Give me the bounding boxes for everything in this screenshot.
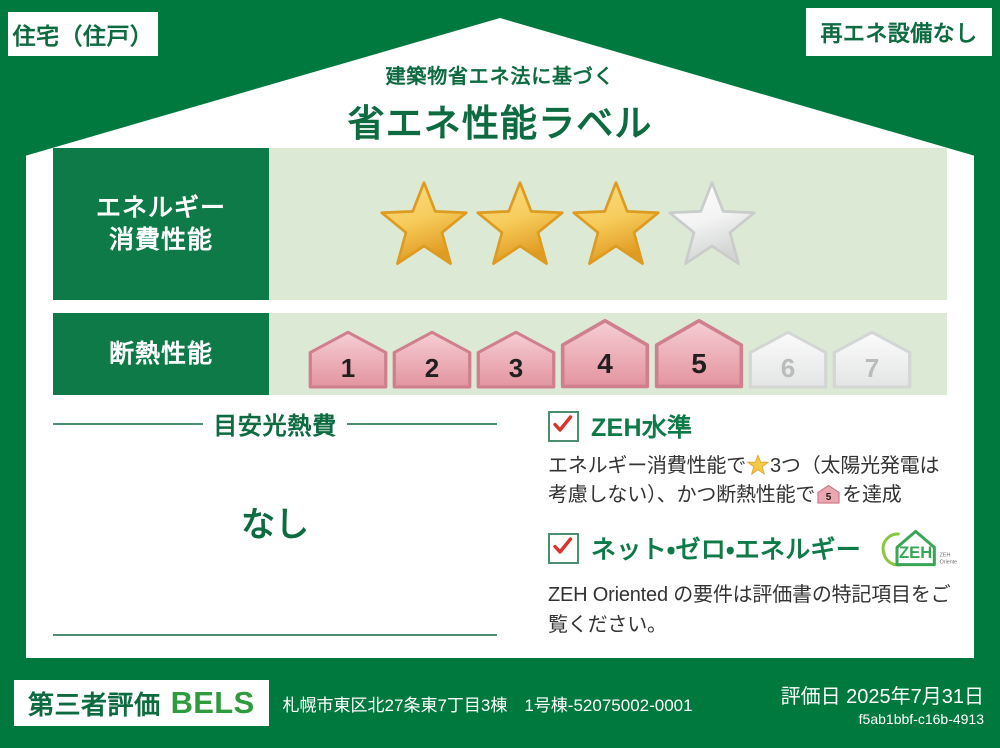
- insulation-level-7: 7: [831, 330, 913, 390]
- zeh-oriented-logo: ZEH ZEH Oriented: [877, 526, 957, 570]
- svg-text:ZEH: ZEH: [899, 543, 932, 562]
- renewable-energy-tag: 再エネ設備なし: [806, 8, 992, 56]
- certificate-id: f5ab1bbf-c16b-4913: [781, 711, 984, 727]
- svg-text:Oriented: Oriented: [940, 559, 957, 565]
- zeh-desc-part1: エネルギー消費性能で: [548, 455, 746, 477]
- footer-right: 評価日 2025年7月31日 f5ab1bbf-c16b-4913: [781, 680, 984, 727]
- insulation-level-number: 6: [747, 353, 829, 384]
- bels-badge: 第三者評価 BELS: [14, 680, 269, 726]
- insulation-level-4: 4: [559, 318, 651, 390]
- footer: 第三者評価 BELS 札幌市東区北27条東7丁目3棟 1号棟-52075002-…: [0, 658, 1000, 748]
- star-empty-icon: [667, 179, 757, 269]
- star-filled-icon: [571, 179, 661, 269]
- insulation-level-1: 1: [307, 330, 389, 390]
- insulation-level-number: 4: [559, 348, 651, 380]
- insulation-scale-body: 1234567: [269, 313, 947, 395]
- rule-left: [53, 423, 203, 425]
- zeh-desc-part3: を達成: [842, 484, 901, 506]
- energy-performance-label-line2: 消費性能: [109, 224, 213, 257]
- net-zero-energy-header: ネット・ゼロ・エネルギー ZEH ZEH Oriented: [548, 526, 958, 570]
- building-type-tag-label: 住宅（住戸）: [13, 17, 154, 51]
- building-type-tag: 住宅（住戸）: [8, 12, 158, 56]
- insulation-level-2: 2: [391, 330, 473, 390]
- insulation-level-6: 6: [747, 330, 829, 390]
- utility-cost-header: 目安光熱費: [53, 406, 497, 441]
- check-icon: [552, 414, 573, 435]
- insulation-performance-label-text: 断熱性能: [109, 338, 213, 371]
- renewable-energy-tag-label: 再エネ設備なし: [820, 16, 977, 48]
- title-subtitle: 建築物省エネ法に基づく: [0, 60, 1000, 89]
- insulation-level-number: 3: [475, 353, 557, 384]
- energy-performance-label: エネルギー 消費性能: [53, 148, 269, 300]
- title-main: 省エネ性能ラベル: [0, 93, 1000, 147]
- star-rating: [269, 148, 947, 300]
- insulation-performance-row: 断熱性能 1234567: [53, 313, 947, 395]
- energy-performance-label: 住宅（住戸） 再エネ設備なし 建築物省エネ法に基づく 省エネ性能ラベル エネルギ…: [0, 0, 1000, 748]
- net-zero-energy-description: ZEH Oriented の要件は評価書の特記項目をご覧ください。: [548, 580, 958, 640]
- insulation-level-5: 5: [653, 318, 745, 390]
- utility-cost-bottom-rule: [53, 634, 497, 636]
- insulation-level-number: 5: [653, 348, 745, 380]
- energy-performance-row: エネルギー 消費性能: [53, 148, 947, 300]
- title-block: 建築物省エネ法に基づく 省エネ性能ラベル: [0, 60, 1000, 147]
- svg-text:ZEH: ZEH: [940, 553, 951, 559]
- zeh-standard-header: ZEH水準: [548, 408, 958, 444]
- net-zero-energy-section: ネット・ゼロ・エネルギー ZEH ZEH Oriented ZEH Orient…: [548, 526, 958, 640]
- star-icon: [747, 454, 769, 476]
- net-zero-energy-title: ネット・ゼロ・エネルギー: [591, 530, 861, 566]
- star-filled-icon: [379, 179, 469, 269]
- house-level-5-icon: 5: [817, 483, 840, 506]
- star-filled-icon: [475, 179, 565, 269]
- utility-cost-block: 目安光熱費 なし: [53, 406, 497, 636]
- insulation-level-number: 2: [391, 353, 473, 384]
- bels-en-label: BELS: [171, 685, 255, 721]
- insulation-level-3: 3: [475, 330, 557, 390]
- utility-cost-value: なし: [53, 497, 497, 546]
- bels-jp-label: 第三者評価: [28, 685, 161, 722]
- svg-text:5: 5: [826, 492, 832, 503]
- zeh-standard-title: ZEH水準: [591, 408, 692, 444]
- property-address: 札幌市東区北27条東7丁目3棟 1号棟-52075002-0001: [283, 691, 693, 716]
- rule-right: [347, 423, 497, 425]
- check-icon: [552, 536, 573, 557]
- net-zero-energy-checkbox[interactable]: [548, 533, 579, 564]
- utility-cost-title: 目安光熱費: [213, 406, 337, 441]
- evaluation-date: 評価日 2025年7月31日: [781, 680, 984, 709]
- insulation-level-number: 1: [307, 353, 389, 384]
- insulation-performance-label: 断熱性能: [53, 313, 269, 395]
- zeh-block: ZEH水準 エネルギー消費性能で 3つ（太陽光発電は考慮しない）、かつ断熱性能で…: [548, 408, 958, 640]
- insulation-level-scale: 1234567: [307, 318, 913, 390]
- zeh-standard-checkbox[interactable]: [548, 411, 579, 442]
- energy-performance-label-line1: エネルギー: [96, 192, 226, 225]
- zeh-standard-description: エネルギー消費性能で 3つ（太陽光発電は考慮しない）、かつ断熱性能で 5 を達成: [548, 452, 958, 510]
- insulation-level-number: 7: [831, 353, 913, 384]
